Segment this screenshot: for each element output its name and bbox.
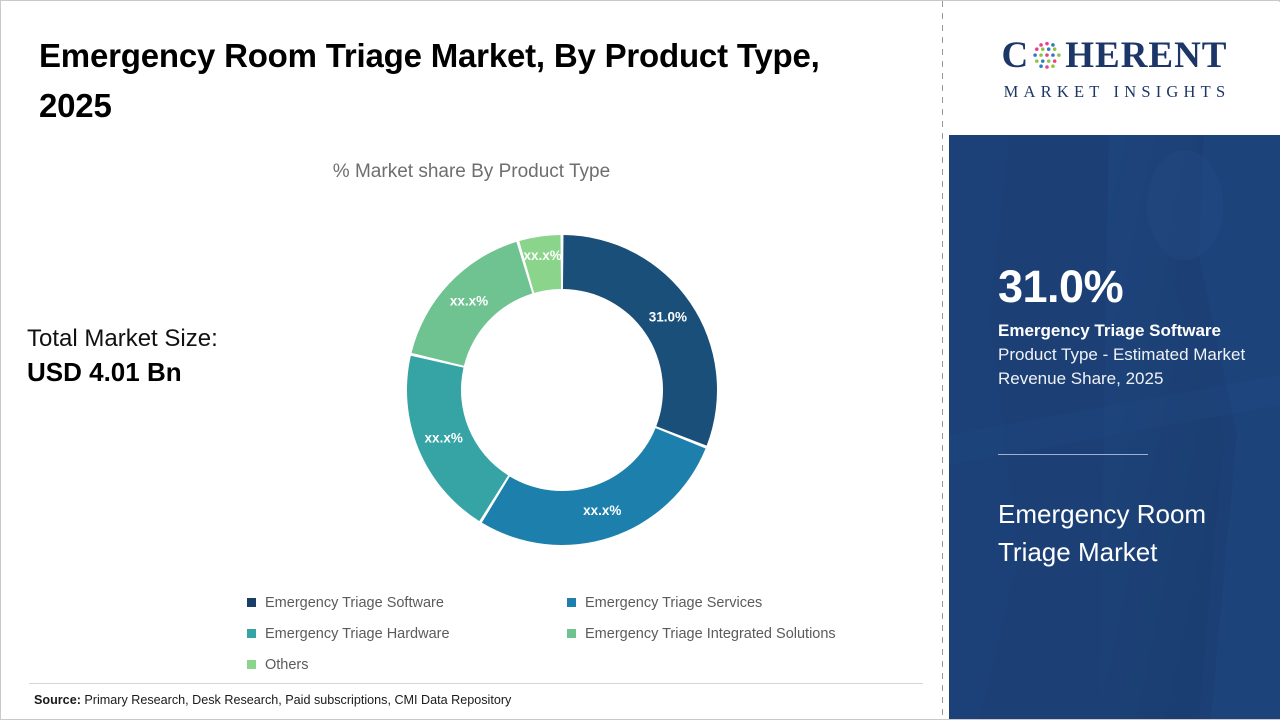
highlight-stat-description: Emergency Triage Software Product Type -… [998,319,1248,390]
logo-text-herent: HERENT [1065,37,1227,74]
stat-divider [998,454,1148,455]
logo-wordmark: C [1002,36,1228,76]
chart-legend: Emergency Triage SoftwareEmergency Triag… [247,587,927,680]
background-artwork [949,135,1280,719]
legend-item[interactable]: Emergency Triage Software [247,595,567,611]
legend-item[interactable]: Emergency Triage Integrated Solutions [567,626,927,642]
legend-swatch [247,629,256,638]
donut-slice[interactable] [563,235,717,446]
total-market-size-label: Total Market Size: [27,323,357,355]
legend-swatch [567,629,576,638]
side-panel: C [949,2,1280,719]
donut-slice-label: xx.x% [583,503,621,518]
legend-item[interactable]: Others [247,657,567,673]
chart-subtitle: % Market share By Product Type [1,161,942,183]
legend-swatch [247,660,256,669]
source-divider [29,683,923,684]
panel-market-name: Emergency Room Triage Market [998,496,1248,571]
source-text: Primary Research, Desk Research, Paid su… [81,693,511,707]
highlight-stat-value: 31.0% [998,264,1248,309]
total-market-size: Total Market Size: USD 4.01 Bn [27,323,357,391]
logo-tagline: MARKET INSIGHTS [999,82,1231,102]
legend-swatch [567,598,576,607]
total-market-size-value: USD 4.01 Bn [27,355,357,391]
donut-slice-label: 31.0% [649,310,687,325]
highlight-stat-segment: Emergency Triage Software [998,321,1221,340]
donut-slice-label: xx.x% [450,294,488,309]
legend-item[interactable]: Emergency Triage Hardware [247,626,567,642]
page-title: Emergency Room Triage Market, By Product… [39,31,879,131]
globe-dots-icon [1030,39,1064,73]
donut-slice[interactable] [482,428,706,545]
legend-item-label: Emergency Triage Software [265,595,444,611]
legend-swatch [247,598,256,607]
highlight-stat: 31.0% Emergency Triage Software Product … [998,264,1248,390]
highlight-stat-rest: Product Type - Estimated Market Revenue … [998,345,1245,388]
source-note: Source: Primary Research, Desk Research,… [34,693,511,707]
source-label: Source: [34,693,81,707]
donut-slices [407,235,717,545]
legend-item[interactable]: Emergency Triage Services [567,595,927,611]
donut-slice-label: xx.x% [425,431,463,446]
legend-item-label: Emergency Triage Hardware [265,626,450,642]
legend-item-label: Emergency Triage Services [585,595,762,611]
legend-item-label: Emergency Triage Integrated Solutions [585,626,836,642]
logo: C [949,2,1280,135]
legend-item-label: Others [265,657,309,673]
logo-letter-c: C [1002,37,1030,74]
donut-chart-svg: 31.0%xx.x%xx.x%xx.x%xx.x% [402,230,722,550]
panel-divider [942,1,943,719]
infographic-slide: Emergency Room Triage Market, By Product… [0,0,1280,720]
donut-chart: 31.0%xx.x%xx.x%xx.x%xx.x% [402,230,722,550]
chart-panel: Emergency Room Triage Market, By Product… [1,1,942,719]
donut-slice-label: xx.x% [523,248,561,263]
